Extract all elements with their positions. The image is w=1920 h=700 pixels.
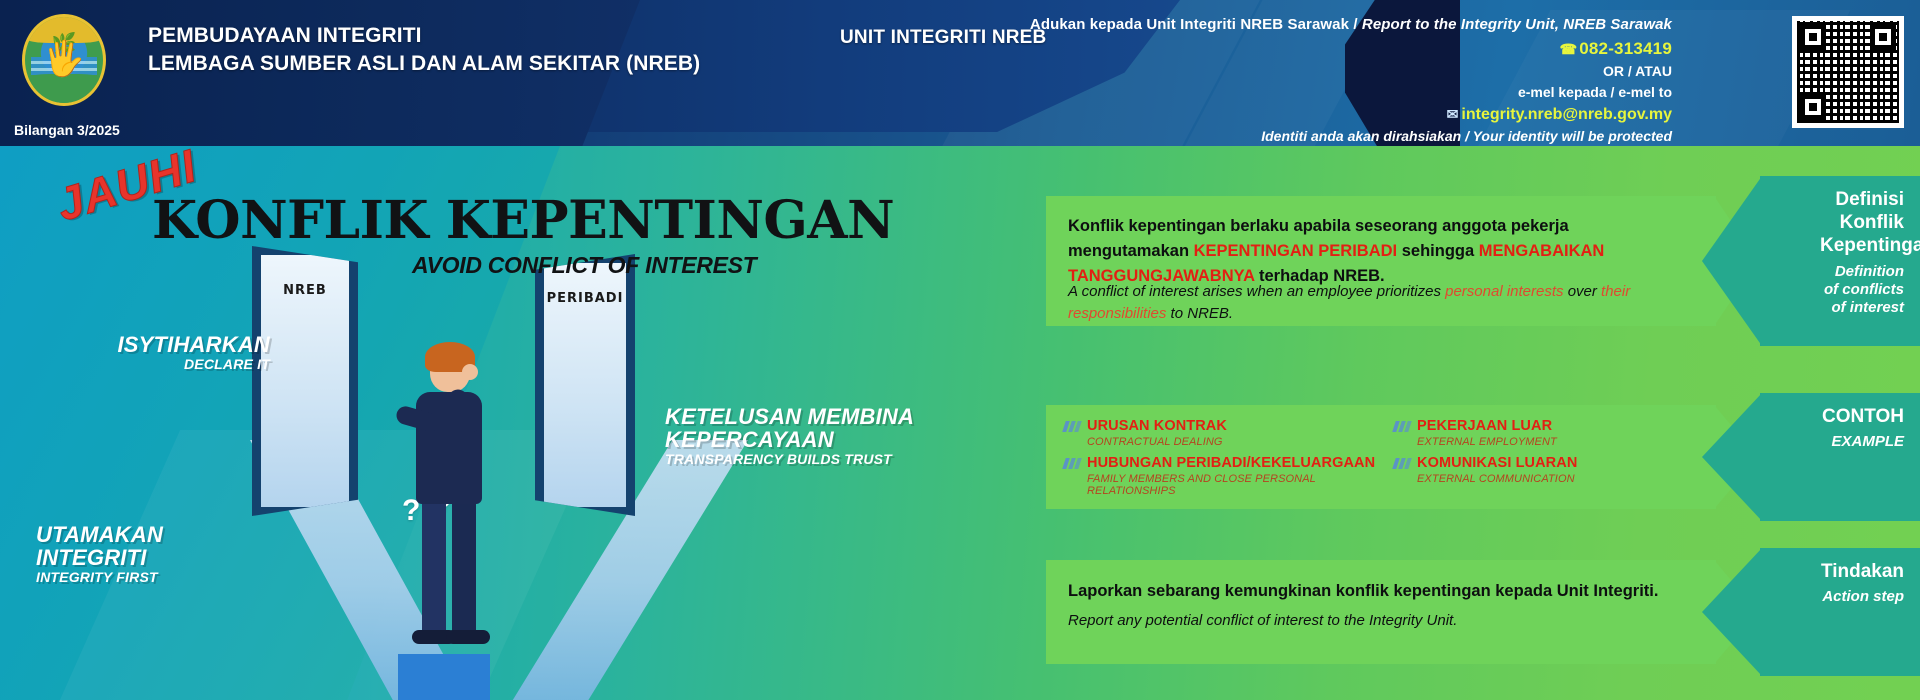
tag-definition: Definisi Konflik Kepentingan Definition … <box>1760 176 1920 346</box>
figure-hand <box>462 364 478 380</box>
example-item-communication: KOMUNIKASI LUARAN EXTERNAL COMMUNICATION <box>1394 454 1694 497</box>
label-transparency-ms: KETELUSAN MEMBINA KEPERCAYAAN <box>665 405 925 451</box>
def-ms-part2: sehingga <box>1397 242 1479 260</box>
contact-phone-line[interactable]: ☎082-313419 <box>972 36 1672 61</box>
card-action-text-ms: Laporkan sebarang kemungkinan konflik ke… <box>1068 582 1658 601</box>
nreb-logo: 🌿 🖐 <box>22 14 106 106</box>
figure-leg-right <box>452 496 476 636</box>
qr-eye-top-left <box>1800 24 1826 50</box>
contact-email: integrity.nreb@nreb.gov.my <box>1461 106 1672 123</box>
qr-code[interactable] <box>1792 16 1904 128</box>
door-nreb-panel: NREB <box>261 255 349 507</box>
qr-eye-bottom-left <box>1800 94 1826 120</box>
tag-examples: CONTOH EXAMPLE <box>1760 393 1920 521</box>
example-contract-ms: URUSAN KONTRAK <box>1087 418 1227 434</box>
confused-person-illustration <box>392 336 512 676</box>
example-family-ms: HUBUNGAN PERIBADI/KEKELUARGAAN <box>1087 455 1375 471</box>
contact-report-en: Report to the Integrity Unit, NREB Saraw… <box>1362 16 1672 33</box>
contact-or: OR / ATAU <box>972 61 1672 82</box>
envelope-icon: ✉ <box>1447 106 1459 122</box>
example-employment-en: EXTERNAL EMPLOYMENT <box>1417 436 1557 448</box>
example-item-family: HUBUNGAN PERIBADI/KEKELUARGAAN FAMILY ME… <box>1064 454 1394 497</box>
example-item-external-employment: PEKERJAAN LUAR EXTERNAL EMPLOYMENT <box>1394 417 1694 448</box>
contact-block: Adukan kepada Unit Integriti NREB Sarawa… <box>972 14 1672 146</box>
example-employment-ms: PEKERJAAN LUAR <box>1417 418 1552 434</box>
contact-email-label: e-mel kepada / e-mel to <box>972 82 1672 103</box>
door-peribadi-label: PERIBADI <box>547 291 624 306</box>
tag-action: Tindakan Action step <box>1760 548 1920 676</box>
example-item-contract: URUSAN KONTRAK CONTRACTUAL DEALING <box>1064 417 1394 448</box>
door-peribadi-panel: PERIBADI <box>544 263 626 507</box>
example-family-en: FAMILY MEMBERS AND CLOSE PERSONAL RELATI… <box>1087 473 1394 497</box>
card-definition-text-en: A conflict of interest arises when an em… <box>1068 281 1688 325</box>
example-item-text: URUSAN KONTRAK CONTRACTUAL DEALING <box>1087 417 1227 448</box>
label-integrity-first-en: INTEGRITY FIRST <box>36 569 266 585</box>
example-communication-en: EXTERNAL COMMUNICATION <box>1417 473 1577 485</box>
card-definition: Konflik kepentingan berlaku apabila sese… <box>1046 196 1716 326</box>
tag-examples-en: EXAMPLE <box>1820 433 1904 451</box>
door-peribadi: PERIBADI <box>535 254 635 516</box>
figure-leg-left <box>422 496 446 636</box>
issue-number: Bilangan 3/2025 <box>14 122 120 138</box>
label-integrity-first-ms: UTAMAKAN INTEGRITI <box>36 523 266 569</box>
tag-definition-ms: Definisi Konflik Kepentingan <box>1820 188 1904 258</box>
example-item-text: PEKERJAAN LUAR EXTERNAL EMPLOYMENT <box>1417 417 1557 448</box>
example-contract-en: CONTRACTUAL DEALING <box>1087 436 1227 448</box>
hand-icon: 🖐 <box>43 42 85 76</box>
def-en-red1: personal interests <box>1445 283 1563 300</box>
chevron-bars-icon <box>1062 421 1082 432</box>
example-item-text: KOMUNIKASI LUARAN EXTERNAL COMMUNICATION <box>1417 454 1577 485</box>
phone-icon: ☎ <box>1560 41 1578 57</box>
example-communication-ms: KOMUNIKASI LUARAN <box>1417 455 1577 471</box>
page-header: 🌿 🖐 PEMBUDAYAAN INTEGRITI LEMBAGA SUMBER… <box>0 0 1920 146</box>
header-org-title: PEMBUDAYAAN INTEGRITI LEMBAGA SUMBER ASL… <box>148 22 700 79</box>
examples-grid: URUSAN KONTRAK CONTRACTUAL DEALING PEKER… <box>1064 417 1704 497</box>
chevron-bars-icon <box>1392 421 1412 432</box>
header-org-line2: LEMBAGA SUMBER ASLI DAN ALAM SEKITAR (NR… <box>148 50 700 78</box>
contact-email-line[interactable]: ✉integrity.nreb@nreb.gov.my <box>972 103 1672 127</box>
contact-separator: / <box>1353 16 1357 33</box>
logo-ring: 🌿 🖐 <box>22 14 106 106</box>
def-en-part2: over <box>1564 283 1602 300</box>
header-org-line1: PEMBUDAYAAN INTEGRITI <box>148 22 700 50</box>
label-transparency-en: TRANSPARENCY BUILDS TRUST <box>665 451 925 467</box>
qr-eye-top-right <box>1870 24 1896 50</box>
example-item-text: HUBUNGAN PERIBADI/KEKELUARGAAN FAMILY ME… <box>1087 454 1394 497</box>
tag-action-ms: Tindakan <box>1820 560 1904 583</box>
card-definition-text-ms: Konflik kepentingan berlaku apabila sese… <box>1068 214 1688 288</box>
chevron-bars-icon <box>1062 458 1082 469</box>
label-declare-it: ISYTIHARKAN DECLARE IT <box>110 333 270 372</box>
label-declare-it-en: DECLARE IT <box>110 356 270 372</box>
chevron-bars-icon <box>1392 458 1412 469</box>
contact-report-ms: Adukan kepada Unit Integriti NREB Sarawa… <box>1030 16 1349 33</box>
card-action-text-en: Report any potential conflict of interes… <box>1068 612 1457 629</box>
page-title: KONFLIK KEPENTINGAN <box>152 190 894 251</box>
def-en-part1: A conflict of interest arises when an em… <box>1068 283 1445 300</box>
contact-report-line: Adukan kepada Unit Integriti NREB Sarawa… <box>972 14 1672 36</box>
tag-definition-en: Definition of conflicts of interest <box>1820 263 1904 318</box>
logo-band-bottom <box>25 74 103 103</box>
tag-action-en: Action step <box>1820 588 1904 606</box>
contact-privacy-note: Identiti anda akan dirahsiakan / Your id… <box>972 126 1672 146</box>
door-nreb: NREB <box>252 246 358 516</box>
poster-root: 🌿 🖐 PEMBUDAYAAN INTEGRITI LEMBAGA SUMBER… <box>0 0 1920 700</box>
door-nreb-label: NREB <box>283 283 327 298</box>
def-en-part3: to NREB. <box>1166 305 1233 322</box>
label-declare-it-ms: ISYTIHARKAN <box>110 333 270 356</box>
label-integrity-first: UTAMAKAN INTEGRITI INTEGRITY FIRST <box>36 523 266 585</box>
contact-phone: 082-313419 <box>1579 39 1672 58</box>
tag-examples-ms: CONTOH <box>1820 405 1904 428</box>
card-examples: URUSAN KONTRAK CONTRACTUAL DEALING PEKER… <box>1046 405 1716 509</box>
figure-shoe-right <box>446 630 490 644</box>
def-ms-red1: KEPENTINGAN PERIBADI <box>1194 242 1398 260</box>
label-transparency: KETELUSAN MEMBINA KEPERCAYAAN TRANSPAREN… <box>665 405 925 467</box>
card-action: Laporkan sebarang kemungkinan konflik ke… <box>1046 560 1716 664</box>
page-subtitle: AVOID CONFLICT OF INTEREST <box>412 252 756 279</box>
